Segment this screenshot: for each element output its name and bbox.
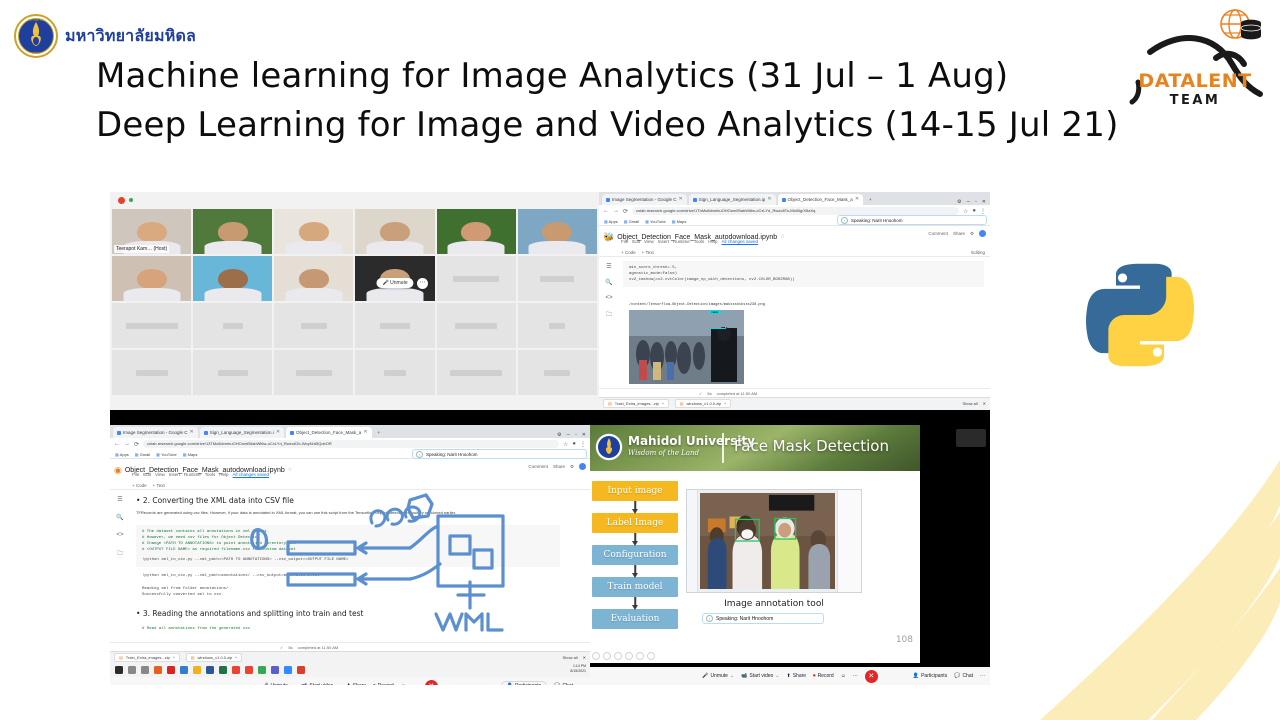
annotated-photo	[700, 493, 835, 589]
bookmark-favicon-icon: ▦	[672, 219, 676, 224]
participant-tile-empty[interactable]	[112, 350, 191, 395]
more-tool-icon[interactable]	[647, 652, 655, 660]
new-tab-button[interactable]: +	[374, 427, 385, 438]
participant-tile-empty[interactable]	[193, 303, 272, 348]
reload-icon[interactable]: ⟳	[623, 208, 628, 215]
code-cell-top[interactable]: min_score_thresh=.5, agnostic_mode=False…	[623, 261, 984, 287]
search-icon[interactable]: 🔍	[605, 279, 612, 286]
participant-tile[interactable]: 🎤 Unmute⋯	[355, 256, 434, 301]
bookmark-item[interactable]: ▦ YouTube	[156, 452, 177, 457]
chrome-icon-bottom[interactable]	[232, 666, 240, 674]
back-icon[interactable]: ←	[603, 208, 609, 214]
share-screen-icon-br: ⬆	[787, 673, 791, 679]
clock-date-bottom: 8/15/2021	[570, 669, 586, 673]
tab-close-icon[interactable]: ✕	[363, 427, 367, 438]
more-button-br[interactable]: ···	[853, 673, 858, 679]
speaking-indicator-top: › Speaking: Narit Hnoohom	[837, 215, 987, 225]
taskbar-clock-bottom: 1:14 PM 8/15/2021	[570, 664, 586, 673]
participant-tile[interactable]	[355, 209, 434, 254]
participant-tile[interactable]	[518, 209, 597, 254]
exec-time-bottom: 5s	[288, 645, 292, 650]
participant-tile-empty[interactable]	[112, 303, 191, 348]
check-icon-bottom: ✓	[280, 645, 283, 650]
colab-pro-logo-icon: ◉	[114, 465, 122, 476]
participant-name-placeholder	[544, 370, 570, 376]
browser-menu-icon[interactable]: ⋮	[980, 208, 986, 215]
tab-label: Image Segmentation - Google C	[612, 194, 677, 205]
add-code-button-top[interactable]: + Code	[621, 250, 636, 255]
task-view-icon-bottom[interactable]	[141, 666, 149, 674]
toc-icon-bottom[interactable]: ☰	[117, 496, 122, 503]
address-bar-bottom[interactable]: colab.research.google.com/drive/13TMo8dx…	[143, 440, 559, 448]
bookmark-favicon-icon: ▦	[156, 452, 160, 457]
participant-tile[interactable]	[274, 209, 353, 254]
university-name-thai: มหาวิทยาลัยมหิดล	[65, 24, 196, 49]
participant-head	[218, 269, 248, 290]
colab-header-bottom: ◉ Object_Detection_Face_Mask_autodownloa…	[110, 459, 590, 481]
zoom-toolbar-bottom-right[interactable]: 🎤 Unmute⌄ 📹 Start video⌄ ⬆ Share ⏺ Recor…	[590, 667, 990, 685]
participant-tile-empty[interactable]	[274, 303, 353, 348]
code-cell-bottom[interactable]: # The dataset contains all annotations i…	[136, 525, 560, 567]
participant-tile-empty[interactable]	[193, 350, 272, 395]
notebook-star-icon-bottom[interactable]: ☆	[288, 467, 292, 473]
download-name: Train_Extra_images...zip	[615, 401, 659, 406]
annotation-tool-figure: Image annotation tool	[686, 489, 862, 609]
eraser-tool-icon[interactable]	[636, 652, 644, 660]
banner-tagline: Wisdom of the Land	[628, 449, 699, 457]
teams-icon-bottom[interactable]	[271, 666, 279, 674]
forward-icon-bottom[interactable]: →	[124, 441, 130, 447]
flow-arrow	[592, 597, 678, 609]
colab-menu-item[interactable]: View	[155, 472, 165, 477]
zip-file-icon-bottom-2: ▤	[191, 655, 195, 660]
participant-name-placeholder	[126, 323, 178, 329]
video-feed	[355, 209, 434, 254]
colab-menu-item[interactable]: Tools	[694, 239, 705, 244]
participant-tile-empty[interactable]	[518, 256, 597, 301]
browser-tab[interactable]: Image Segmentation - Google C✕	[602, 194, 687, 205]
close-window-icon[interactable]: ✕	[582, 432, 586, 438]
flow-arrow	[592, 533, 678, 545]
participant-tile-empty[interactable]	[355, 303, 434, 348]
chevron-up-icon[interactable]: ^	[724, 401, 726, 406]
shared-slide: Mahidol University Wisdom of the Land Fa…	[590, 425, 920, 663]
pointer-tool-icon[interactable]	[592, 652, 600, 660]
mail-icon-bottom[interactable]	[180, 666, 188, 674]
download-chip-bottom-2[interactable]: ▤ windows_v1.0.0.zip ^	[186, 653, 242, 662]
back-icon-bottom[interactable]: ←	[114, 441, 120, 447]
download-chip[interactable]: ▤ windows_v1.0.0.zip ^	[675, 399, 731, 408]
colab-menubar-bottom[interactable]: FileEditViewInsertRuntimeToolsHelpAll ch…	[132, 472, 269, 477]
tile-unmute-button[interactable]: 🎤 Unmute	[377, 278, 414, 288]
browser-tab[interactable]: Image Segmentation - Google C✕	[113, 427, 198, 438]
participant-name-placeholder	[136, 370, 168, 376]
detection-output-image: mask	[629, 310, 744, 384]
windows-taskbar-top[interactable]: 1:00 PM 8/15/2021	[599, 409, 990, 410]
tab-favicon-icon	[117, 431, 121, 435]
close-window-icon[interactable]: ✕	[982, 199, 986, 205]
tab-favicon-icon	[606, 198, 610, 202]
start-icon-bottom[interactable]	[115, 666, 123, 674]
tab-close-icon[interactable]: ✕	[190, 427, 194, 438]
people-icon-br: 👤	[913, 673, 919, 679]
decorative-swoosh	[980, 460, 1280, 720]
colab-menu-item[interactable]: File	[132, 472, 139, 477]
participant-tile[interactable]	[193, 209, 272, 254]
participant-body	[448, 241, 505, 254]
zoom-out-tool-icon[interactable]	[625, 652, 633, 660]
save-status-label: All changes saved	[233, 472, 270, 477]
bookmark-favicon-icon: ▦	[645, 219, 649, 224]
bookmark-favicon-icon: ▦	[604, 219, 608, 224]
chevron-up-icon-bottom-2[interactable]: ^	[235, 655, 237, 660]
bookmark-favicon-icon: ▦	[115, 452, 119, 457]
chat-button-br[interactable]: 💬 Chat	[954, 673, 973, 679]
participant-tile[interactable]	[112, 256, 191, 301]
people-icon-bl: 👤	[507, 683, 513, 685]
avatar-bottom[interactable]	[579, 463, 586, 470]
maximize-icon[interactable]: ▫	[575, 432, 577, 438]
participant-tile-empty[interactable]	[274, 350, 353, 395]
colab-menu-item[interactable]: Edit	[632, 239, 640, 244]
extensions-icon[interactable]: ⚙	[957, 199, 961, 205]
tab-close-icon[interactable]: ✕	[679, 194, 683, 205]
bookmark-item[interactable]: ▦ YouTube	[645, 219, 666, 224]
participant-tile-empty[interactable]	[355, 350, 434, 395]
unmute-button-bl[interactable]: 🎤 Unmute⌄	[262, 683, 294, 685]
taskbar-search-icon-bottom[interactable]	[128, 666, 136, 674]
participant-name-placeholder	[540, 276, 574, 282]
check-icon: ✓	[699, 391, 702, 396]
face-mask-slide-panel[interactable]: Mahidol University Wisdom of the Land Fa…	[590, 425, 990, 685]
chat-bubble-icon-br: 💬	[954, 673, 960, 679]
status-text-top: completed at 11:50 AM	[717, 391, 758, 396]
chevron-up-icon-bottom[interactable]: ^	[173, 655, 175, 660]
browser-tab[interactable]: Sign_Language_Segmentation.ip✕	[689, 194, 776, 205]
code-comment: # <OUTPUT FILE NAME> as required filenam…	[142, 547, 554, 553]
participant-name-placeholder	[380, 323, 410, 329]
comment-button-bottom[interactable]: Comment	[528, 464, 548, 469]
new-tab-button[interactable]: +	[865, 194, 876, 205]
extensions-icon[interactable]: ⚙	[557, 432, 561, 438]
record-button-br[interactable]: ⏺ Record	[813, 673, 834, 679]
output-line: Successfully converted xml to csv.	[142, 592, 560, 598]
close-downloads-icon-bottom[interactable]: ✕	[583, 655, 586, 660]
pdf-icon-bottom[interactable]	[297, 666, 305, 674]
participant-name-placeholder	[384, 370, 406, 376]
bookmark-item[interactable]: ▦ Maps	[183, 452, 198, 457]
colab-menu-item[interactable]: Runtime	[184, 472, 201, 477]
participant-name-placeholder	[218, 370, 248, 376]
participants-button-br[interactable]: 👤 Participants	[913, 673, 947, 679]
show-all-downloads-bottom[interactable]: Show all	[563, 655, 578, 660]
participant-head	[137, 222, 167, 243]
colab-menu-item[interactable]: Help	[708, 239, 717, 244]
files-icon[interactable]: 🗀	[606, 310, 612, 320]
tab-favicon-icon	[290, 431, 294, 435]
share-button-bl[interactable]: ⬆ Share	[347, 683, 367, 685]
participant-tile-empty[interactable]	[437, 303, 516, 348]
start-video-button-bl[interactable]: 📹 Start video⌄	[301, 683, 339, 685]
maximize-icon[interactable]: ▫	[975, 199, 977, 205]
browser-tab[interactable]: Object_Detection_Face_Mask_a✕	[778, 194, 864, 205]
browser-tab[interactable]: Object_Detection_Face_Mask_a✕	[286, 427, 372, 438]
participant-head	[380, 222, 410, 243]
colab-menu-item[interactable]: Help	[219, 472, 228, 477]
tab-label: Image Segmentation - Google C	[123, 427, 188, 438]
zip-file-icon: ▤	[608, 401, 612, 406]
download-name-bottom-2: windows_v1.0.0.zip	[198, 655, 233, 660]
show-all-downloads[interactable]: Show all	[963, 401, 978, 406]
files-icon-bottom[interactable]: 🗀	[117, 549, 123, 559]
editing-label-top[interactable]: Editing	[971, 250, 990, 255]
participant-tile-empty[interactable]	[437, 350, 516, 395]
participant-tile[interactable]	[274, 256, 353, 301]
video-feed	[112, 256, 191, 301]
participant-head	[542, 222, 572, 243]
flow-step-input-image: Input image	[592, 481, 678, 501]
browser-tab-strip-bottom[interactable]: Image Segmentation - Google C✕Sign_Langu…	[110, 425, 590, 438]
colab-menu-item[interactable]: Runtime	[673, 239, 690, 244]
colab-menu-item[interactable]: Insert	[658, 239, 669, 244]
settings-gear-icon-top[interactable]: ⚙	[970, 231, 974, 237]
colab-menu-item[interactable]: Edit	[143, 472, 151, 477]
profile-avatar-icon[interactable]: ●	[972, 208, 976, 214]
add-code-button-bottom[interactable]: + Code	[132, 483, 147, 488]
slide-titles: Machine learning for Image Analytics (31…	[96, 52, 1166, 151]
colab-cell-toolbar-bottom[interactable]: + Code + Text	[110, 481, 590, 490]
participant-body	[367, 241, 424, 254]
speaking-label-top: Speaking: Narit Hnoohom	[851, 218, 903, 223]
notebook-star-icon[interactable]: ☆	[780, 234, 784, 240]
start-video-button-br[interactable]: 📹 Start video⌄	[741, 673, 779, 679]
close-downloads-icon[interactable]: ✕	[983, 401, 986, 406]
download-chip-bottom[interactable]: ▤ Train_Extra_images...zip ^	[114, 653, 180, 662]
markdown-paragraph: TFRecords are generated using csv files.…	[136, 510, 560, 516]
profile-avatar-icon-bottom[interactable]: ●	[572, 441, 576, 447]
bookmark-star-icon[interactable]: ☆	[963, 208, 968, 215]
colab-menu-item[interactable]: Tools	[205, 472, 216, 477]
page-title-line-1: Machine learning for Image Analytics (31…	[96, 52, 1166, 101]
browser-tab[interactable]: Sign_Language_Segmentation.i✕	[200, 427, 284, 438]
exec-time-top: 5s	[707, 391, 711, 396]
status-dot-icon	[129, 198, 133, 202]
code-command-actual: !python xml_to_csv.py --xml_path=annotat…	[142, 573, 560, 579]
tab-close-icon[interactable]: ✕	[855, 194, 859, 205]
word-icon-bottom[interactable]	[206, 666, 214, 674]
comment-button-top[interactable]: Comment	[928, 231, 948, 236]
tab-close-icon[interactable]: ✕	[767, 194, 771, 205]
participant-body	[204, 241, 261, 254]
participant-head	[218, 222, 248, 243]
speaking-indicator-bottom: › Speaking: Narit Hnoohom	[412, 449, 587, 459]
pen-tool-icon[interactable]	[603, 652, 611, 660]
speaker-expand-icon-bottom[interactable]: ›	[416, 451, 423, 458]
downloads-bar-top[interactable]: ▤ Train_Extra_images...zip ^ ▤ windows_v…	[599, 397, 990, 409]
annotation-mini-toolbar[interactable]	[592, 652, 655, 660]
unmute-button-br[interactable]: 🎤 Unmute⌄	[702, 673, 734, 679]
colab-browser-panel-bottom[interactable]: Image Segmentation - Google C✕Sign_Langu…	[110, 425, 590, 685]
toc-icon[interactable]: ☰	[606, 263, 611, 270]
participant-tile-empty[interactable]	[437, 256, 516, 301]
presentation-slide: มหาวิทยาลัย มหิดล มหาวิทยาลัยมหิดล Machi…	[0, 0, 1280, 720]
settings-gear-icon-bottom[interactable]: ⚙	[570, 464, 574, 470]
figure-caption: Image annotation tool	[686, 599, 862, 609]
chat-button-bl[interactable]: 💬 Chat	[554, 683, 573, 685]
code-snippets-icon[interactable]: <>	[605, 295, 612, 301]
annotation-tool-left-panel	[687, 490, 698, 592]
downloads-bar-bottom[interactable]: ▤ Train_Extra_images...zip ^ ▤ windows_v…	[110, 651, 590, 663]
smiley-icon-bl: ☺	[401, 683, 406, 685]
speaking-label-slide: Speaking: Narit Hnoohom	[716, 616, 773, 622]
speaking-indicator-slide: › Speaking: Narit Hnoohom	[702, 613, 824, 624]
tab-label: Sign_Language_Segmentation.i	[210, 427, 274, 438]
detection-bounding-box: mask	[709, 313, 726, 329]
record-button-bl[interactable]: ⏺ Record	[373, 683, 394, 685]
bookmark-item[interactable]: ▦ Apps	[115, 452, 129, 457]
participant-tile[interactable]	[437, 209, 516, 254]
overflow-button-bl[interactable]: ···	[580, 683, 585, 685]
participant-tile[interactable]: Teerapot Kam… (Host)	[112, 209, 191, 254]
reload-icon-bottom[interactable]: ⟳	[134, 441, 139, 448]
video-feed	[274, 209, 353, 254]
colab-logo-icon: 🐝	[603, 232, 614, 243]
chrome-icon-bottom-2[interactable]	[245, 666, 253, 674]
browser-tab-strip-top[interactable]: Image Segmentation - Google C✕Sign_Langu…	[599, 192, 990, 205]
bookmark-item[interactable]: ▦ Gmail	[135, 452, 150, 457]
flow-step-train-model: Train model	[592, 577, 678, 597]
add-text-button-bottom[interactable]: + Text	[153, 483, 165, 488]
participant-head	[137, 269, 167, 290]
record-icon-bl: ⏺	[373, 683, 376, 685]
zoom-toolbar-bottom-left[interactable]: 🎤 Unmute⌄ 📹 Start video⌄ ⬆ Share ⏺ Recor…	[110, 677, 590, 685]
download-chip[interactable]: ▤ Train_Extra_images...zip ^	[603, 399, 669, 408]
participant-tile[interactable]	[193, 256, 272, 301]
avatar-top[interactable]	[979, 230, 986, 237]
colab-actions-bottom[interactable]: Comment Share ⚙	[528, 463, 586, 470]
participant-tile-empty[interactable]	[518, 350, 597, 395]
excel-icon-bottom[interactable]	[219, 666, 227, 674]
end-meeting-button-br[interactable]: ✕	[865, 670, 878, 683]
python-logo-icon	[1080, 255, 1200, 375]
opera-icon-bottom[interactable]	[167, 666, 175, 674]
window-controls[interactable]: ⚙─▫✕	[557, 432, 590, 438]
video-feed	[518, 209, 597, 254]
share-button-top[interactable]: Share	[953, 231, 965, 236]
flow-step-label-image: Label Image	[592, 513, 678, 533]
participant-name-placeholder	[301, 323, 327, 329]
status-text-bottom: completed at 11:50 AM	[298, 645, 339, 650]
colab-menu-item[interactable]: View	[644, 239, 654, 244]
share-button-bottom[interactable]: Share	[553, 464, 565, 469]
tab-favicon-icon	[782, 198, 786, 202]
annotation-tool-window	[686, 489, 862, 593]
participant-name-placeholder	[223, 323, 243, 329]
minimize-icon[interactable]: ─	[566, 432, 570, 438]
download-name-bottom: Train_Extra_images...zip	[126, 655, 170, 660]
colab-sidebar-bottom[interactable]: ☰ 🔍 <> 🗀	[110, 490, 130, 642]
bookmark-item[interactable]: ▦ Apps	[604, 219, 618, 224]
reactions-button-br[interactable]: ☺	[841, 673, 846, 679]
slide-banner: Mahidol University Wisdom of the Land Fa…	[590, 425, 920, 471]
bookmark-favicon-icon: ▦	[135, 452, 139, 457]
output-path-top: /content/Tensorflow-Object-Detection/ima…	[629, 303, 765, 307]
participants-button-bl[interactable]: 👤 Participants	[501, 681, 547, 685]
smiley-icon-br: ☺	[841, 673, 846, 679]
flow-step-configuration: Configuration	[592, 545, 678, 565]
code-snippets-icon-bottom[interactable]: <>	[116, 532, 123, 538]
colab-menubar-top[interactable]: FileEditViewInsertRuntimeToolsHelpAll ch…	[621, 239, 758, 244]
address-bar-top[interactable]: colab.research.google.com/drive/1ThMo8dx…	[632, 207, 959, 215]
colab-sidebar-top[interactable]: ☰ 🔍 <> 🗀	[599, 257, 619, 397]
colab-menu-item[interactable]: Insert	[169, 472, 180, 477]
overflow-button-br[interactable]: ···	[980, 673, 985, 679]
chrome-icon-bottom-3[interactable]	[258, 666, 266, 674]
speaker-expand-icon-slide[interactable]: ›	[706, 615, 713, 622]
bookmark-favicon-icon: ▦	[624, 219, 628, 224]
add-text-button-top[interactable]: + Text	[642, 250, 654, 255]
zoom-in-tool-icon[interactable]	[614, 652, 622, 660]
reactions-button-bl[interactable]: ☺	[401, 683, 406, 685]
participant-name-placeholder	[453, 276, 499, 282]
colab-cell-toolbar-top[interactable]: + Code + Text Editing	[599, 248, 990, 257]
datalent-team: TEAM	[1120, 93, 1270, 108]
participant-body	[123, 288, 180, 301]
speaker-expand-icon[interactable]: ›	[841, 217, 848, 224]
forward-icon[interactable]: →	[613, 208, 619, 214]
zip-file-icon-bottom: ▤	[119, 655, 123, 660]
firefox-icon-bottom[interactable]	[154, 666, 162, 674]
share-button-br[interactable]: ⬆ Share	[787, 673, 807, 679]
video-feed	[437, 209, 516, 254]
search-icon-bottom[interactable]: 🔍	[116, 514, 123, 521]
bookmark-favicon-icon: ▦	[183, 452, 187, 457]
participant-body	[285, 241, 342, 254]
colab-browser-panel-top[interactable]: Image Segmentation - Google C✕Sign_Langu…	[599, 192, 990, 410]
chevron-up-icon[interactable]: ^	[662, 401, 664, 406]
zoom-icon-bottom[interactable]	[284, 666, 292, 674]
more-button-bl[interactable]: ···	[413, 683, 418, 685]
participant-tile-grid: Teerapot Kam… (Host)🎤 Unmute⋯	[110, 209, 599, 395]
windows-taskbar-bottom[interactable]: 1:14 PM 8/15/2021	[110, 663, 590, 677]
bookmark-item[interactable]: ▦ Maps	[672, 219, 687, 224]
colab-menu-item[interactable]: File	[621, 239, 628, 244]
clock-time-bottom: 1:14 PM	[573, 664, 586, 668]
window-controls[interactable]: ⚙─▫✕	[957, 199, 990, 205]
slide-number: 108	[896, 635, 913, 645]
zoom-gallery-panel[interactable]: Teerapot Kam… (Host)🎤 Unmute⋯	[110, 192, 599, 410]
participant-tile-empty[interactable]	[518, 303, 597, 348]
flow-arrow	[592, 565, 678, 577]
bookmark-item[interactable]: ▦ Gmail	[624, 219, 639, 224]
record-icon-br: ⏺	[813, 673, 816, 679]
zoom-window-topbar	[110, 192, 599, 209]
tab-close-icon[interactable]: ✕	[276, 427, 280, 438]
self-view-thumbnail[interactable]	[956, 429, 986, 447]
end-meeting-button-bl[interactable]: ✕	[425, 680, 438, 686]
minimize-icon[interactable]: ─	[966, 199, 970, 205]
page-title-line-2: Deep Learning for Image and Video Analyt…	[96, 101, 1166, 150]
participant-body	[529, 241, 586, 254]
bookmark-star-icon-bottom[interactable]: ☆	[563, 441, 568, 448]
participant-name-placeholder	[450, 370, 502, 376]
explorer-icon-bottom[interactable]	[193, 666, 201, 674]
browser-menu-icon-bottom[interactable]: ⋮	[580, 441, 586, 448]
colab-actions-top[interactable]: Comment Share ⚙	[928, 230, 986, 237]
tile-more-button[interactable]: ⋯	[417, 278, 428, 289]
participant-head	[299, 269, 329, 290]
participant-body	[204, 288, 261, 301]
